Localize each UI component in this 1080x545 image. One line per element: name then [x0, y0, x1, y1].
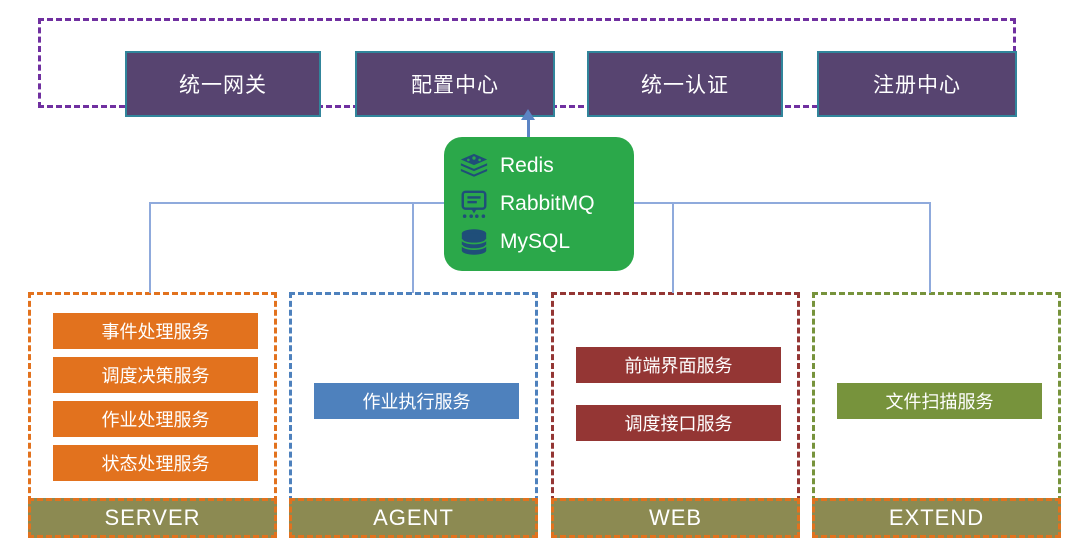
middleware-label: RabbitMQ — [500, 192, 595, 216]
service-box[interactable]: 前端界面服务 — [576, 347, 781, 383]
platform-box-unified-auth[interactable]: 统一认证 — [587, 51, 783, 117]
group-label-server: SERVER — [28, 498, 277, 538]
platform-box-config-center[interactable]: 配置中心 — [355, 51, 555, 117]
service-label: 文件扫描服务 — [886, 388, 994, 414]
service-box[interactable]: 调度接口服务 — [576, 405, 781, 441]
platform-box-label: 统一网关 — [179, 69, 267, 99]
middleware-label: MySQL — [500, 230, 570, 254]
group-label-text: AGENT — [373, 505, 454, 531]
service-box[interactable]: 文件扫描服务 — [837, 383, 1042, 419]
platform-box-label: 统一认证 — [641, 69, 729, 99]
group-server: 事件处理服务 调度决策服务 作业处理服务 状态处理服务 — [28, 292, 277, 502]
middleware-item-rabbitmq[interactable]: RabbitMQ — [458, 185, 634, 223]
service-box[interactable]: 状态处理服务 — [53, 445, 258, 481]
service-label: 作业执行服务 — [363, 388, 471, 414]
service-label: 调度决策服务 — [102, 362, 210, 388]
service-box[interactable]: 事件处理服务 — [53, 313, 258, 349]
platform-box-label: 配置中心 — [411, 69, 499, 99]
service-label: 调度接口服务 — [625, 410, 733, 436]
group-label-text: EXTEND — [889, 505, 984, 531]
message-bubble-icon — [458, 188, 490, 220]
group-label-text: SERVER — [104, 505, 200, 531]
group-label-agent: AGENT — [289, 498, 538, 538]
service-box[interactable]: 作业处理服务 — [53, 401, 258, 437]
middleware-label: Redis — [500, 154, 554, 178]
service-label: 前端界面服务 — [625, 352, 733, 378]
connector-riser-extend — [929, 202, 931, 293]
connector-bus-left — [149, 202, 445, 204]
middleware-item-redis[interactable]: Redis — [458, 147, 634, 185]
platform-box-registry-center[interactable]: 注册中心 — [817, 51, 1017, 117]
middleware-item-mysql[interactable]: MySQL — [458, 223, 634, 261]
service-label: 状态处理服务 — [102, 450, 210, 476]
service-box[interactable]: 调度决策服务 — [53, 357, 258, 393]
connector-riser-agent — [412, 202, 414, 293]
database-cylinder-icon — [458, 226, 490, 258]
connector-riser-web — [672, 202, 674, 293]
platform-box-label: 注册中心 — [873, 69, 961, 99]
platform-layer-container: 统一网关 配置中心 统一认证 注册中心 — [38, 18, 1016, 108]
group-label-text: WEB — [649, 505, 702, 531]
group-agent: 作业执行服务 — [289, 292, 538, 502]
group-label-extend: EXTEND — [812, 498, 1061, 538]
service-label: 事件处理服务 — [102, 318, 210, 344]
layers-stack-icon — [458, 150, 490, 182]
group-label-web: WEB — [551, 498, 800, 538]
group-web: 前端界面服务 调度接口服务 — [551, 292, 800, 502]
service-box[interactable]: 作业执行服务 — [314, 383, 519, 419]
connector-riser-server — [149, 202, 151, 293]
group-extend: 文件扫描服务 — [812, 292, 1061, 502]
platform-box-unified-gateway[interactable]: 统一网关 — [125, 51, 321, 117]
architecture-diagram: 统一网关 配置中心 统一认证 注册中心 事件处理服务 调度决策服务 作业处理服务 — [0, 0, 1080, 545]
service-label: 作业处理服务 — [102, 406, 210, 432]
middleware-card: Redis — [444, 137, 634, 271]
connector-bus-right — [633, 202, 929, 204]
